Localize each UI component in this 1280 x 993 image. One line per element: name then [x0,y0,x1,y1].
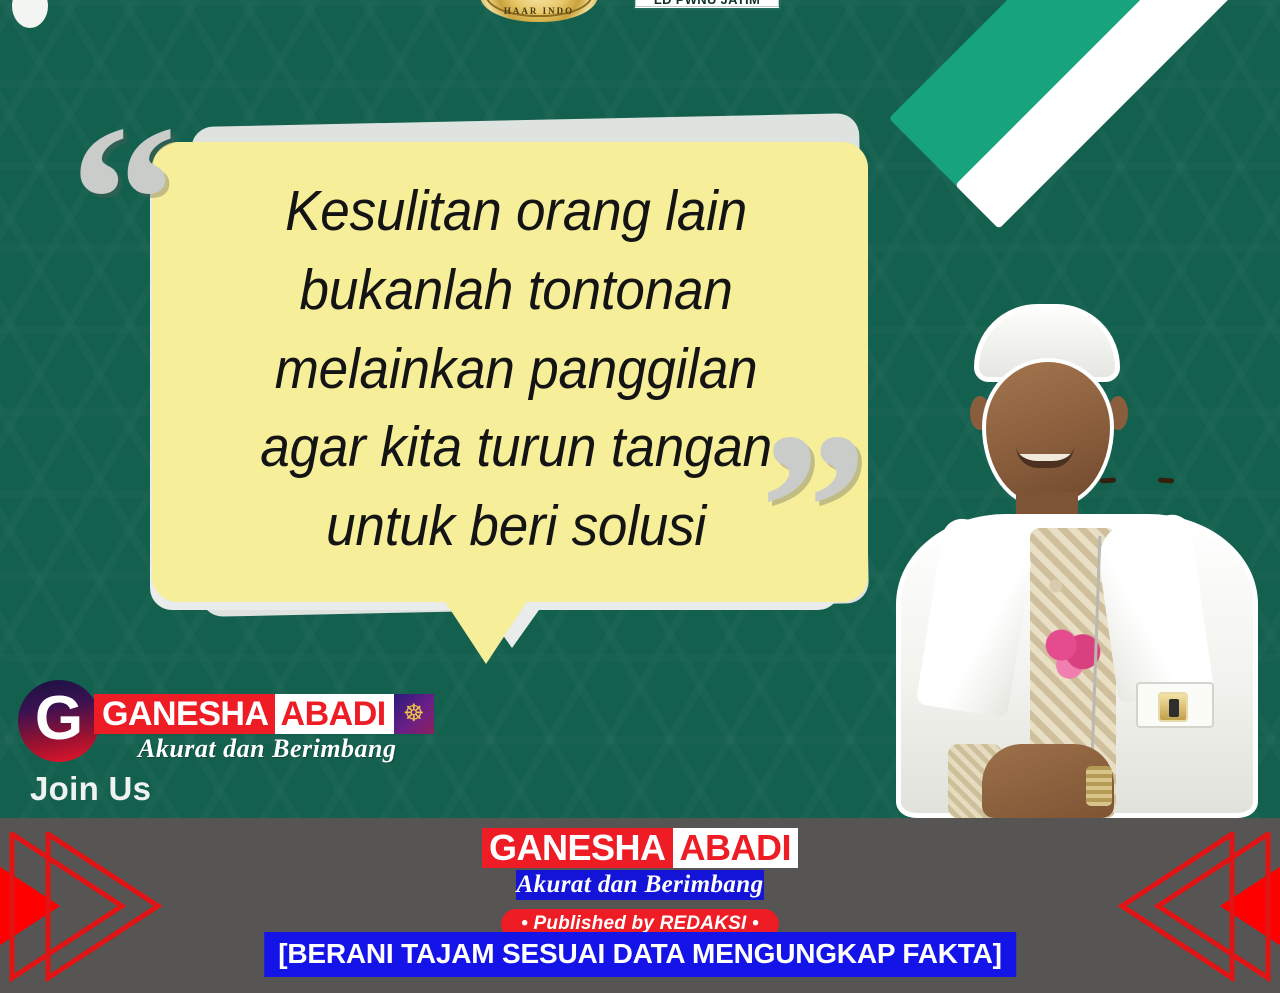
brand-name-abadi: ABADI [275,694,394,734]
chevron-right-decoration-left [0,832,240,982]
quote-line: Kesulitan orang lain [260,172,772,251]
top-label-text: LD PWNU JATIM [654,0,760,6]
person-photo-cutout [890,296,1270,818]
footer-wordmark: GANESHA ABADI [430,828,850,868]
footer-brand-lockup: GANESHA ABADI Akurat dan Berimbang • Pub… [430,828,850,939]
quote-line: melainkan panggilan [260,330,772,409]
slogan-banner: [BERANI TAJAM SESUAI DATA MENGUNGKAP FAK… [264,932,1016,977]
footer-brand-tagline: Akurat dan Berimbang [516,870,764,900]
quote-open-mark-icon: “ [70,92,178,307]
face [982,358,1114,508]
quote-line: bukanlah tontonan [260,251,772,330]
brand-badge-icon: ☸ [394,694,434,734]
poster-main-area: HAAR INDO LD PWNU JATIM [0,0,1280,818]
wristwatch [1086,766,1112,806]
g-letter: G [35,688,83,750]
join-us-label: Join Us [30,770,151,808]
footer-brand-name-abadi: ABADI [673,828,799,868]
brand-logo-poster: G GANESHA ABADI ☸ Akurat dan Berimbang [10,676,440,772]
eye-right [1158,477,1174,483]
poster-canvas: HAAR INDO LD PWNU JATIM [0,0,1280,993]
brand-tagline: Akurat dan Berimbang [138,734,397,764]
quote-tail [440,594,532,664]
ganesha-g-monogram-icon: G [18,680,100,762]
brand-wordmark: GANESHA ABADI ☸ [94,694,434,734]
quote-close-mark-icon: ” [760,400,868,615]
brand-name-ganesha: GANESHA [94,694,275,734]
lapel-pin-icon [1158,692,1188,722]
diagonal-band-decoration [840,0,1280,280]
seal-text: HAAR INDO [480,6,598,16]
footer-brand-name-ganesha: GANESHA [482,828,673,868]
footer-bar: GANESHA ABADI Akurat dan Berimbang • Pub… [0,818,1280,993]
chevron-left-decoration-right [1040,832,1280,982]
quote-line: untuk beri solusi [260,487,772,566]
quote-text: Kesulitan orang lain bukanlah tontonan m… [260,172,772,565]
quote-line: agar kita turun tangan [260,408,772,487]
top-label-box-inner: LD PWNU JATIM [635,0,779,7]
top-label-box: LD PWNU JATIM [633,0,781,10]
